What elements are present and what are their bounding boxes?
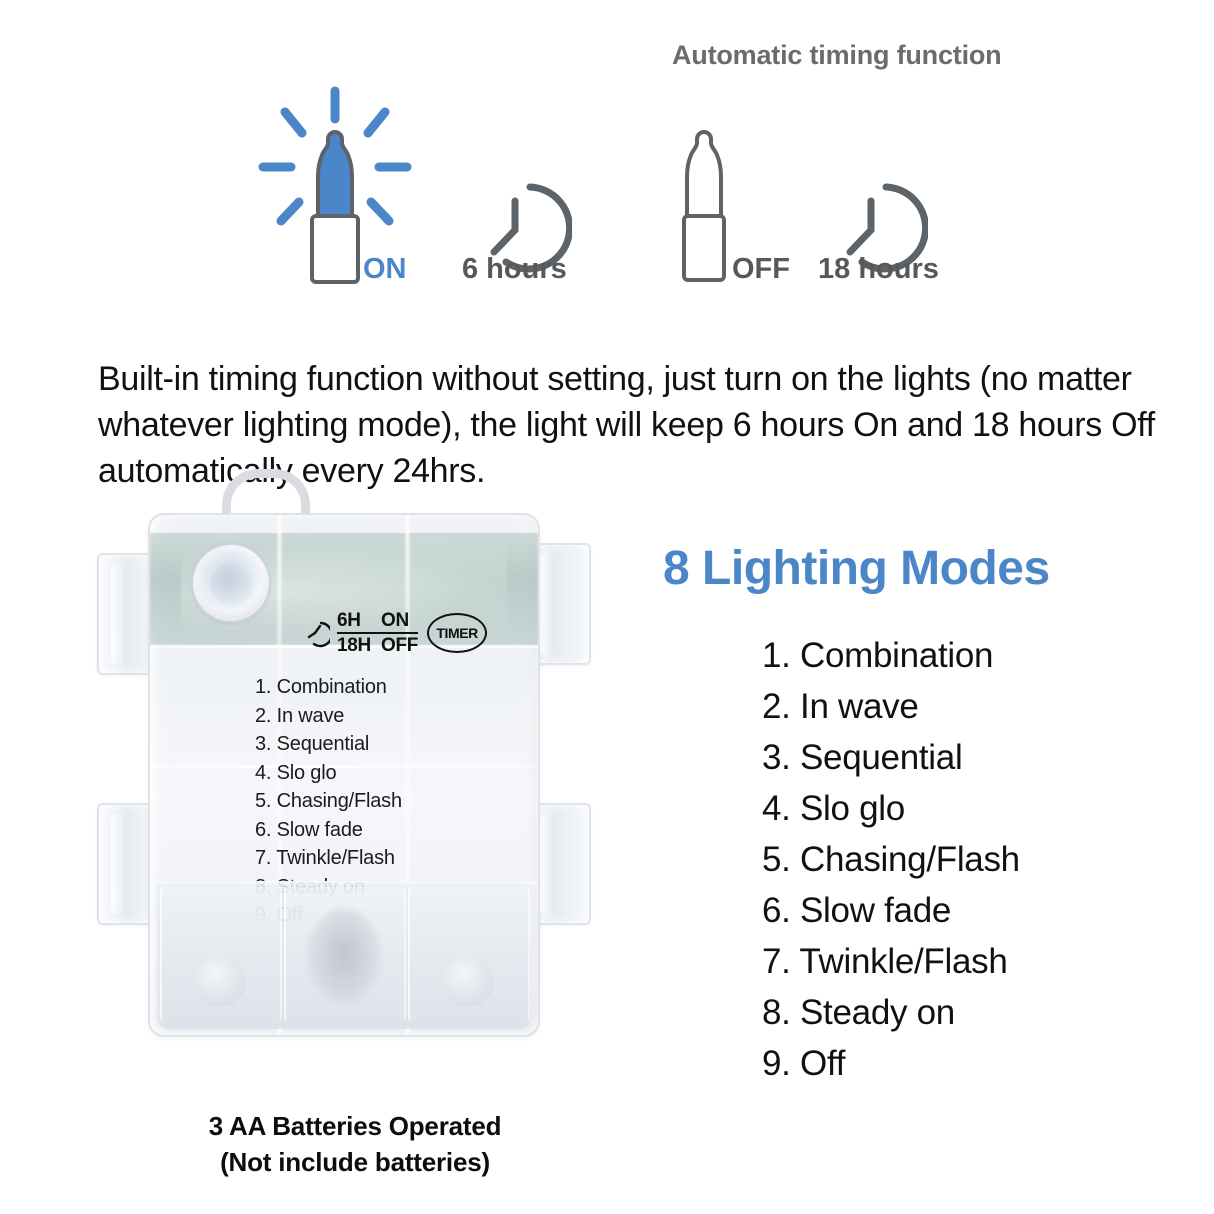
- battery-shadow: [306, 909, 382, 1005]
- timer-on-row: 6H ON: [337, 611, 418, 630]
- bulb-on-label: ON: [363, 253, 407, 286]
- timer-on-hours: 6H: [337, 611, 371, 630]
- automatic-timing-header: Automatic timing function: [672, 40, 1001, 71]
- timing-icon-row: ON 6 hours OFF 18 hours: [0, 85, 1214, 300]
- timer-hours-table: 6H ON 18H OFF: [337, 611, 418, 655]
- timer-legend: 6H ON 18H OFF TIMER: [300, 611, 487, 655]
- timer-divider: [337, 632, 418, 634]
- list-item: 6. Slow fade: [762, 885, 1020, 936]
- timer-off-hours: 18H: [337, 636, 371, 655]
- battery-slot: [160, 887, 282, 1021]
- clock-18-hours-cell: 18 hours: [818, 85, 928, 308]
- list-item: 8. Steady on: [762, 987, 1020, 1038]
- timer-button[interactable]: TIMER: [427, 613, 487, 653]
- bulb-on-cell: ON: [255, 85, 415, 290]
- battery-caption-line1: 3 AA Batteries Operated: [95, 1108, 615, 1144]
- list-item: 1. Combination: [762, 630, 1020, 681]
- battery-caption-line2: (Not include batteries): [95, 1144, 615, 1180]
- battery-box-shell: 6H ON 18H OFF TIMER 1. Combination 2. In…: [148, 513, 540, 1037]
- clock-6-hours-label: 6 hours: [462, 253, 567, 286]
- list-item: 5. Chasing/Flash: [255, 787, 402, 816]
- battery-contact-nub: [194, 955, 246, 1007]
- clock-18-hours-label: 18 hours: [818, 253, 939, 286]
- timer-off-label: OFF: [381, 636, 418, 655]
- page-title: 8 Lighting Modes: [663, 541, 1050, 596]
- bulb-off-cell: OFF: [660, 85, 780, 312]
- list-item: 2. In wave: [762, 681, 1020, 732]
- battery-contact-nub: [442, 955, 494, 1007]
- battery-slot: [408, 887, 530, 1021]
- power-button[interactable]: [191, 543, 271, 623]
- battery-compartment: [156, 881, 532, 1029]
- bulb-off-label: OFF: [732, 253, 790, 286]
- clock-6-hours-cell: 6 hours: [462, 85, 572, 308]
- list-item: 4. Slo glo: [762, 783, 1020, 834]
- timer-clock-icon: [300, 618, 330, 648]
- list-item: 3. Sequential: [762, 732, 1020, 783]
- list-item: 1. Combination: [255, 673, 402, 702]
- lighting-modes-list: 1. Combination 2. In wave 3. Sequential …: [762, 630, 1020, 1089]
- list-item: 3. Sequential: [255, 730, 402, 759]
- battery-box-photo: 6H ON 18H OFF TIMER 1. Combination 2. In…: [95, 465, 615, 1195]
- list-item: 6. Slow fade: [255, 816, 402, 845]
- list-item: 4. Slo glo: [255, 759, 402, 788]
- list-item: 2. In wave: [255, 702, 402, 731]
- list-item: 7. Twinkle/Flash: [255, 844, 402, 873]
- list-item: 9. Off: [762, 1038, 1020, 1089]
- timer-on-label: ON: [381, 611, 409, 630]
- list-item: 7. Twinkle/Flash: [762, 936, 1020, 987]
- timer-off-row: 18H OFF: [337, 636, 418, 655]
- list-item: 5. Chasing/Flash: [762, 834, 1020, 885]
- battery-caption: 3 AA Batteries Operated (Not include bat…: [95, 1108, 615, 1180]
